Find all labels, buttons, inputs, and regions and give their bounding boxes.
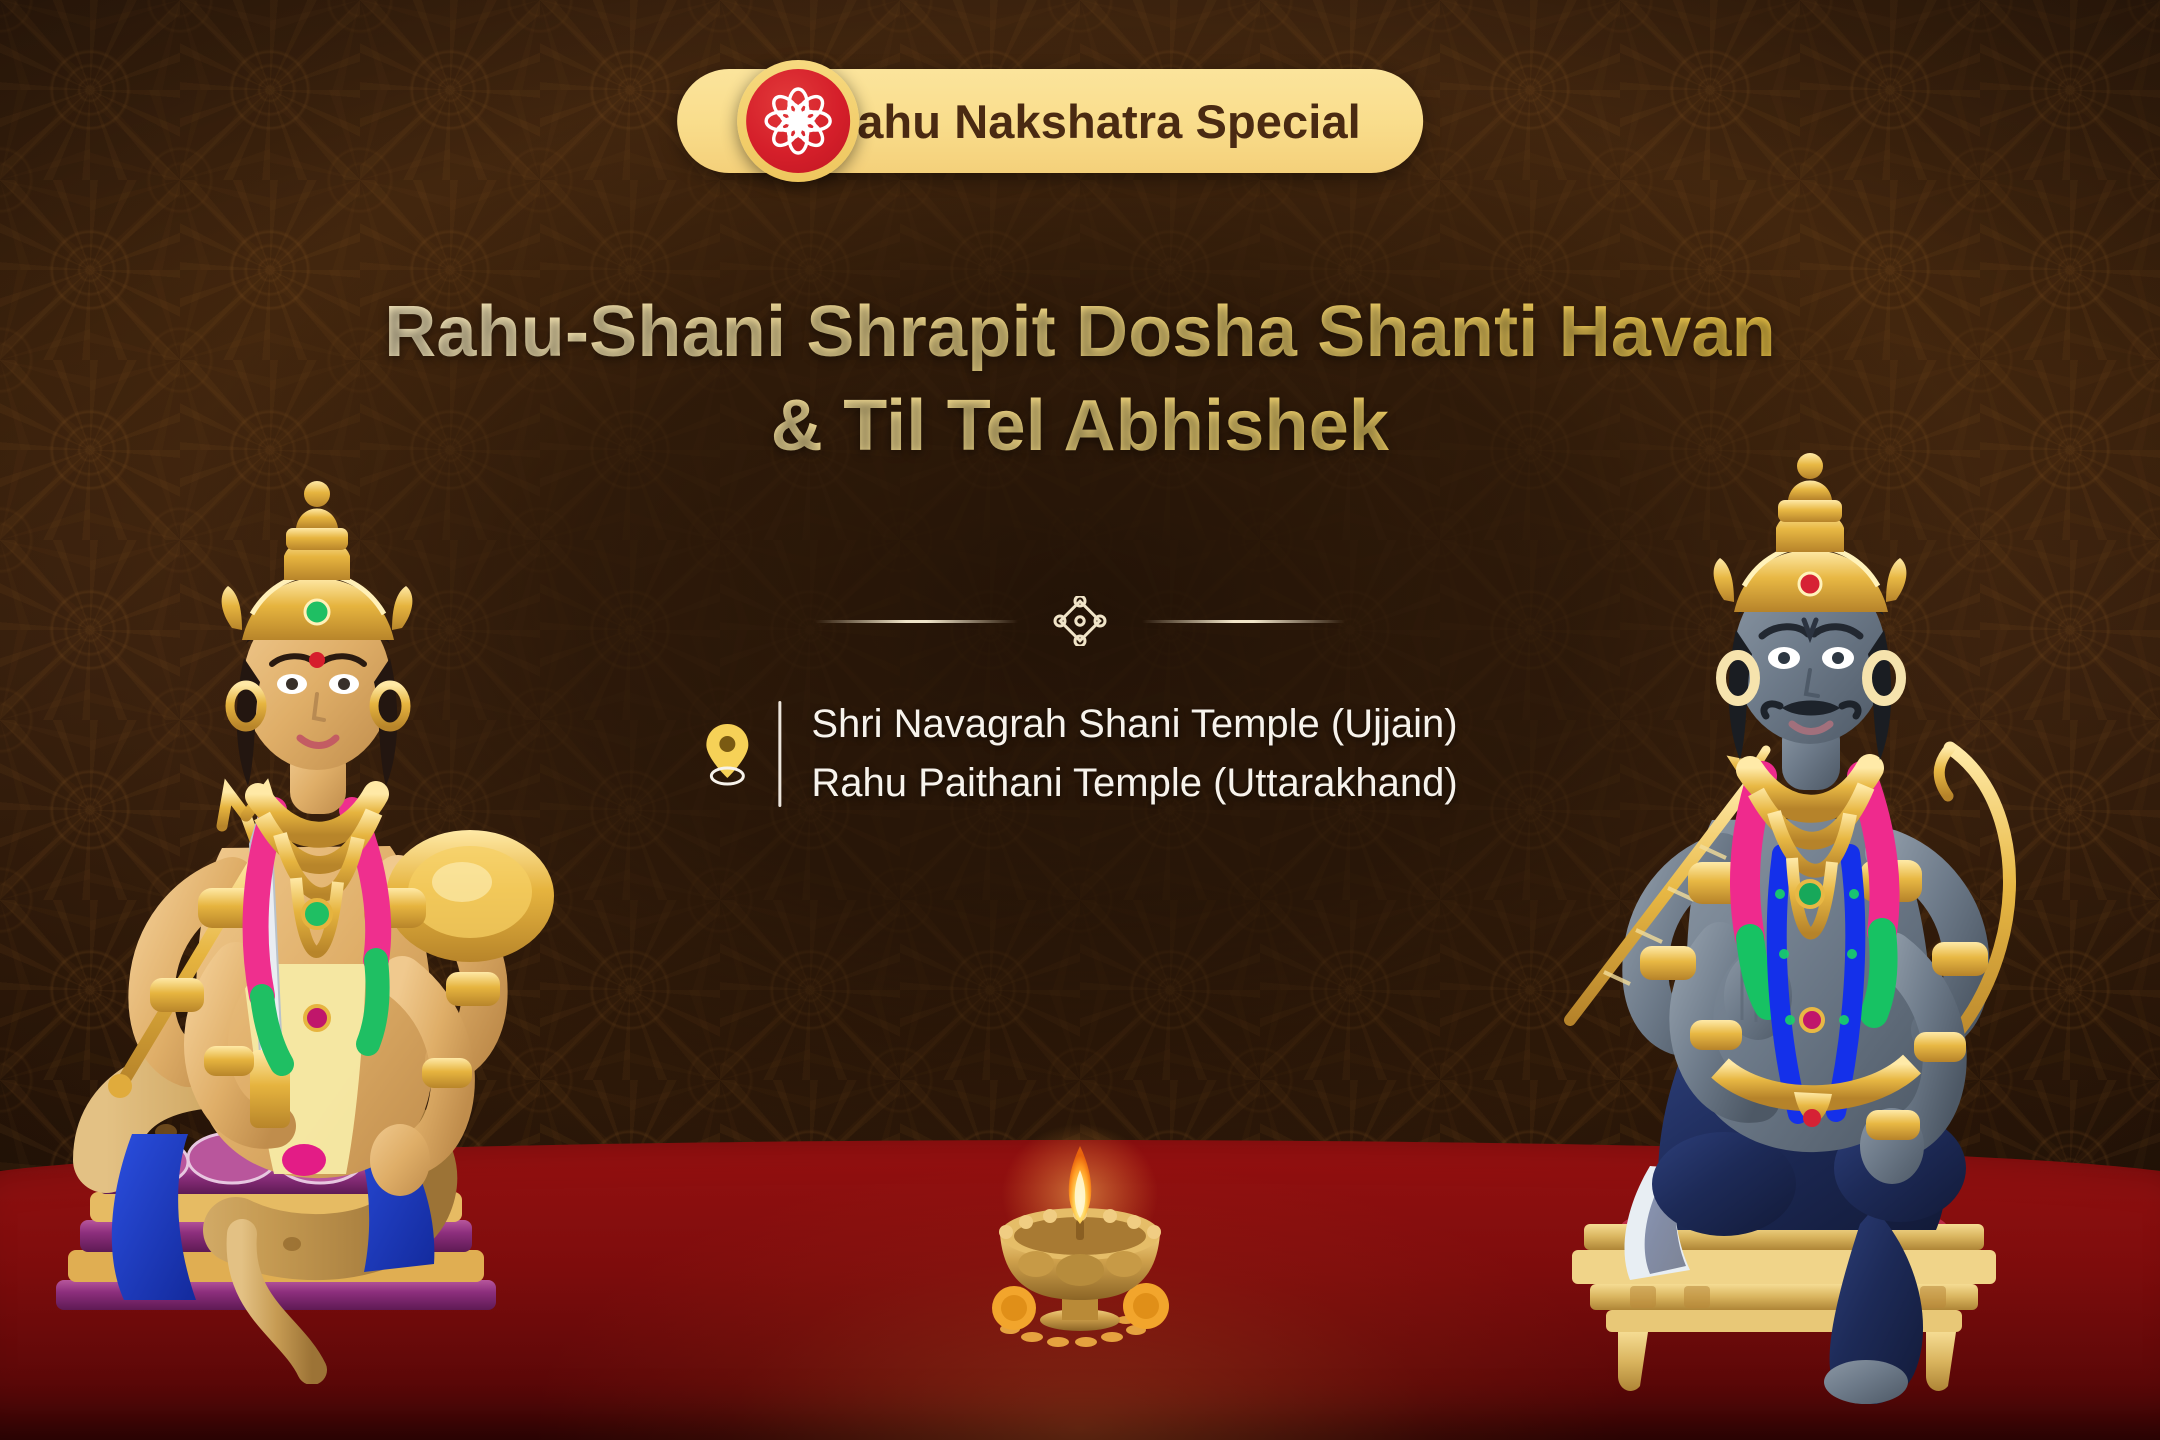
- page-title: Rahu-Shani Shrapit Dosha Shanti Havan & …: [0, 286, 2160, 473]
- divider-line-right: [1142, 620, 1345, 623]
- shani-deity-figure: [1544, 424, 2104, 1404]
- diamond-dots-ornament-icon: [1036, 596, 1124, 646]
- location-lines: Shri Navagrah Shani Temple (Ujjain) Rahu…: [811, 700, 1457, 808]
- badge-label: Rahu Nakshatra Special: [823, 94, 1361, 149]
- diya-oil-lamp: [970, 1124, 1190, 1354]
- badge: Rahu Nakshatra Special: [737, 62, 1423, 180]
- title-line-1: Rahu-Shani Shrapit Dosha Shanti Havan: [384, 292, 1776, 372]
- rahu-deity-figure: [46, 444, 606, 1384]
- location-block: Shri Navagrah Shani Temple (Ujjain) Rahu…: [702, 700, 1457, 808]
- promo-banner: Rahu Nakshatra Special Rahu-Shani Shrapi…: [0, 0, 2160, 1440]
- divider-line-left: [815, 620, 1018, 623]
- location-line-2: Rahu Paithani Temple (Uttarakhand): [811, 759, 1457, 808]
- lotus-mandala-icon: [737, 60, 859, 182]
- location-divider-rule: [778, 701, 781, 807]
- location-line-1: Shri Navagrah Shani Temple (Ujjain): [811, 700, 1457, 749]
- title-line-2: & Til Tel Abhishek: [771, 386, 1389, 466]
- decorative-divider: [815, 596, 1345, 646]
- map-pin-icon: [702, 722, 752, 786]
